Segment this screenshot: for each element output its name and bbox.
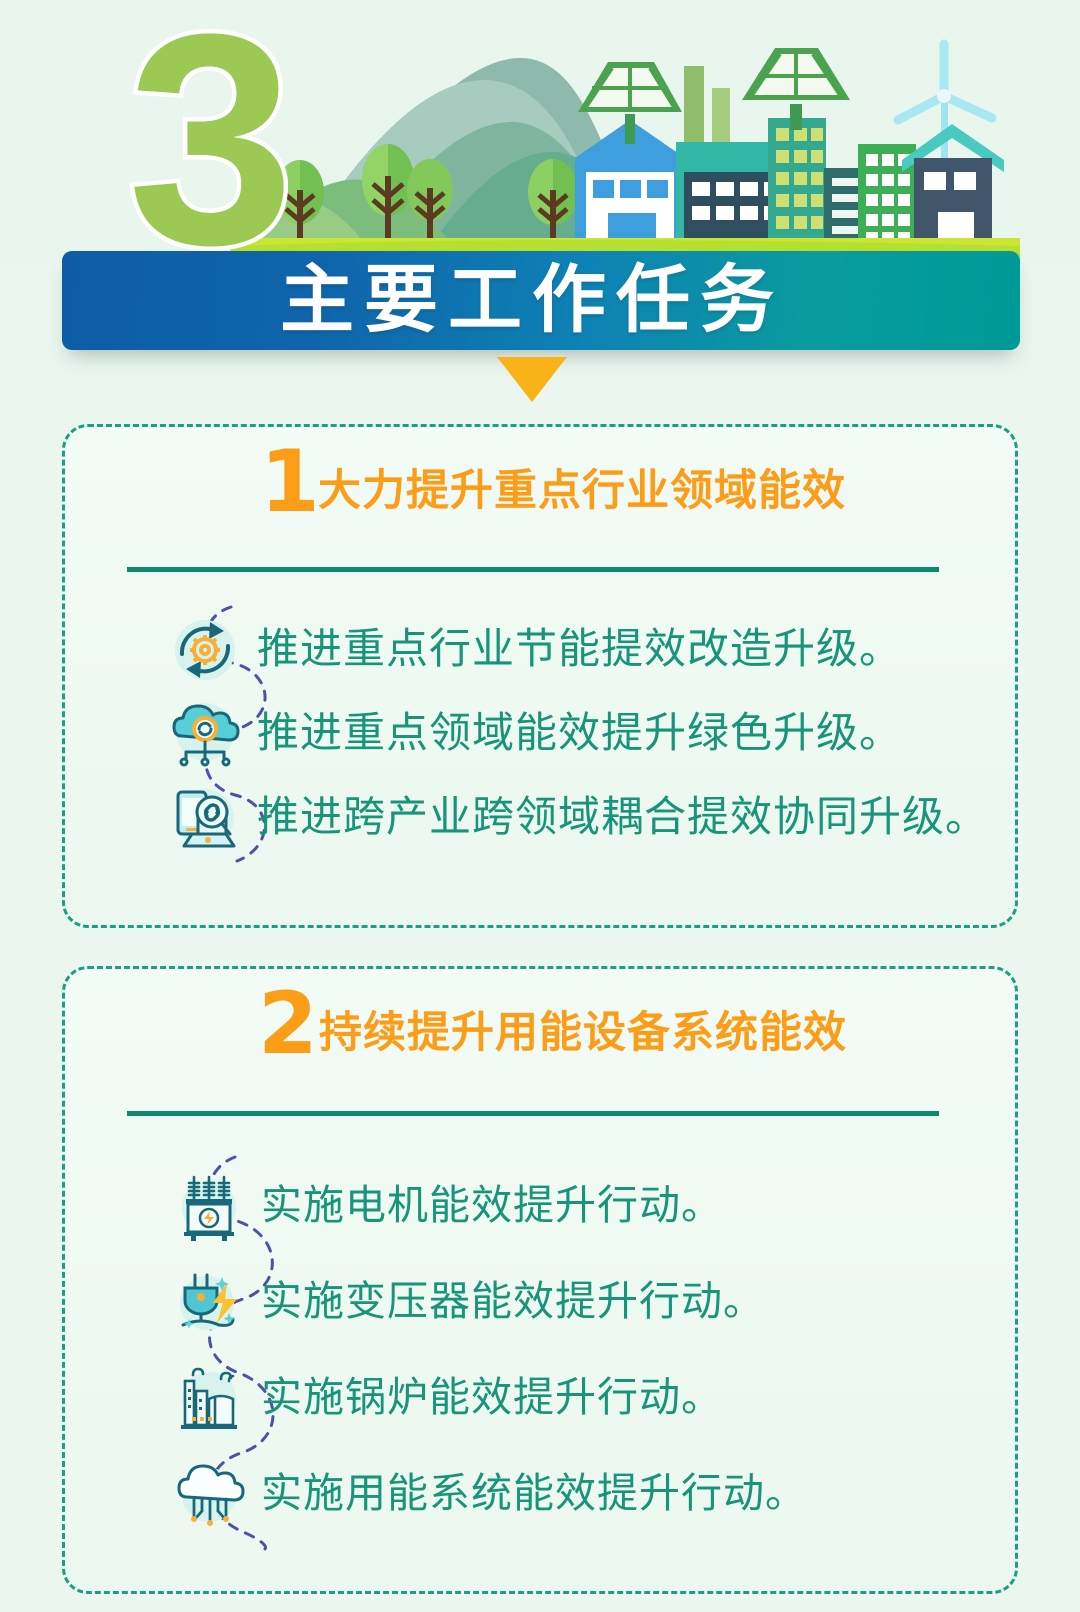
card-2-item-list: 实施电机能效提升行动。	[65, 1157, 1021, 1541]
card-1-divider	[127, 567, 939, 572]
cloud-circuit-icon	[157, 1445, 261, 1541]
card-1-item-list: 推进重点行业节能提效改造升级。 推进重点领域	[65, 607, 1021, 859]
list-item-label: 推进重点行业节能提效改造升级。	[257, 623, 902, 675]
list-item[interactable]: 推进重点行业节能提效改造升级。	[65, 607, 1021, 691]
list-item[interactable]: 实施用能系统能效提升行动。	[65, 1445, 1021, 1541]
card-2-title: 持续提升用能设备系统能效	[319, 1007, 847, 1059]
list-item[interactable]: 推进重点领域能效提升绿色升级。	[65, 691, 1021, 775]
card-1-title: 大力提升重点行业领域能效	[318, 465, 846, 517]
page-title: 主要工作任务	[280, 252, 980, 348]
cloud-refresh-circuit-icon	[153, 691, 257, 775]
plug-bolt-icon	[157, 1253, 261, 1349]
list-item[interactable]: 实施锅炉能效提升行动。	[65, 1349, 1021, 1445]
triangle-down-icon	[497, 357, 567, 402]
task-card-1: 1 大力提升重点行业领域能效	[62, 424, 1018, 928]
section-number: 3	[96, 14, 326, 264]
list-item[interactable]: 推进跨产业跨领域耦合提效协同升级。	[65, 775, 1021, 859]
factory-icon	[157, 1349, 261, 1445]
list-item-label: 实施锅炉能效提升行动。	[261, 1371, 723, 1423]
recycle-gear-icon	[153, 607, 257, 691]
transformer-icon	[157, 1157, 261, 1253]
apartment-tower	[768, 118, 826, 246]
list-item[interactable]: 实施电机能效提升行动。	[65, 1157, 1021, 1253]
list-item[interactable]: 实施变压器能效提升行动。	[65, 1253, 1021, 1349]
card-1-header: 1 大力提升重点行业领域能效	[65, 427, 1015, 535]
list-item-label: 实施用能系统能效提升行动。	[261, 1467, 807, 1519]
card-2-header: 2 持续提升用能设备系统能效	[65, 969, 1015, 1077]
laptop-link-icon	[153, 775, 257, 859]
list-item-label: 推进重点领域能效提升绿色升级。	[257, 707, 902, 759]
card-2-number: 2	[258, 981, 318, 1067]
card-1-number: 1	[260, 439, 320, 525]
list-item-label: 实施变压器能效提升行动。	[261, 1275, 765, 1327]
task-card-2: 2 持续提升用能设备系统能效	[62, 966, 1018, 1594]
list-item-label: 实施电机能效提升行动。	[261, 1179, 723, 1231]
card-2-divider	[127, 1111, 939, 1116]
list-item-label: 推进跨产业跨领域耦合提效协同升级。	[257, 791, 988, 843]
